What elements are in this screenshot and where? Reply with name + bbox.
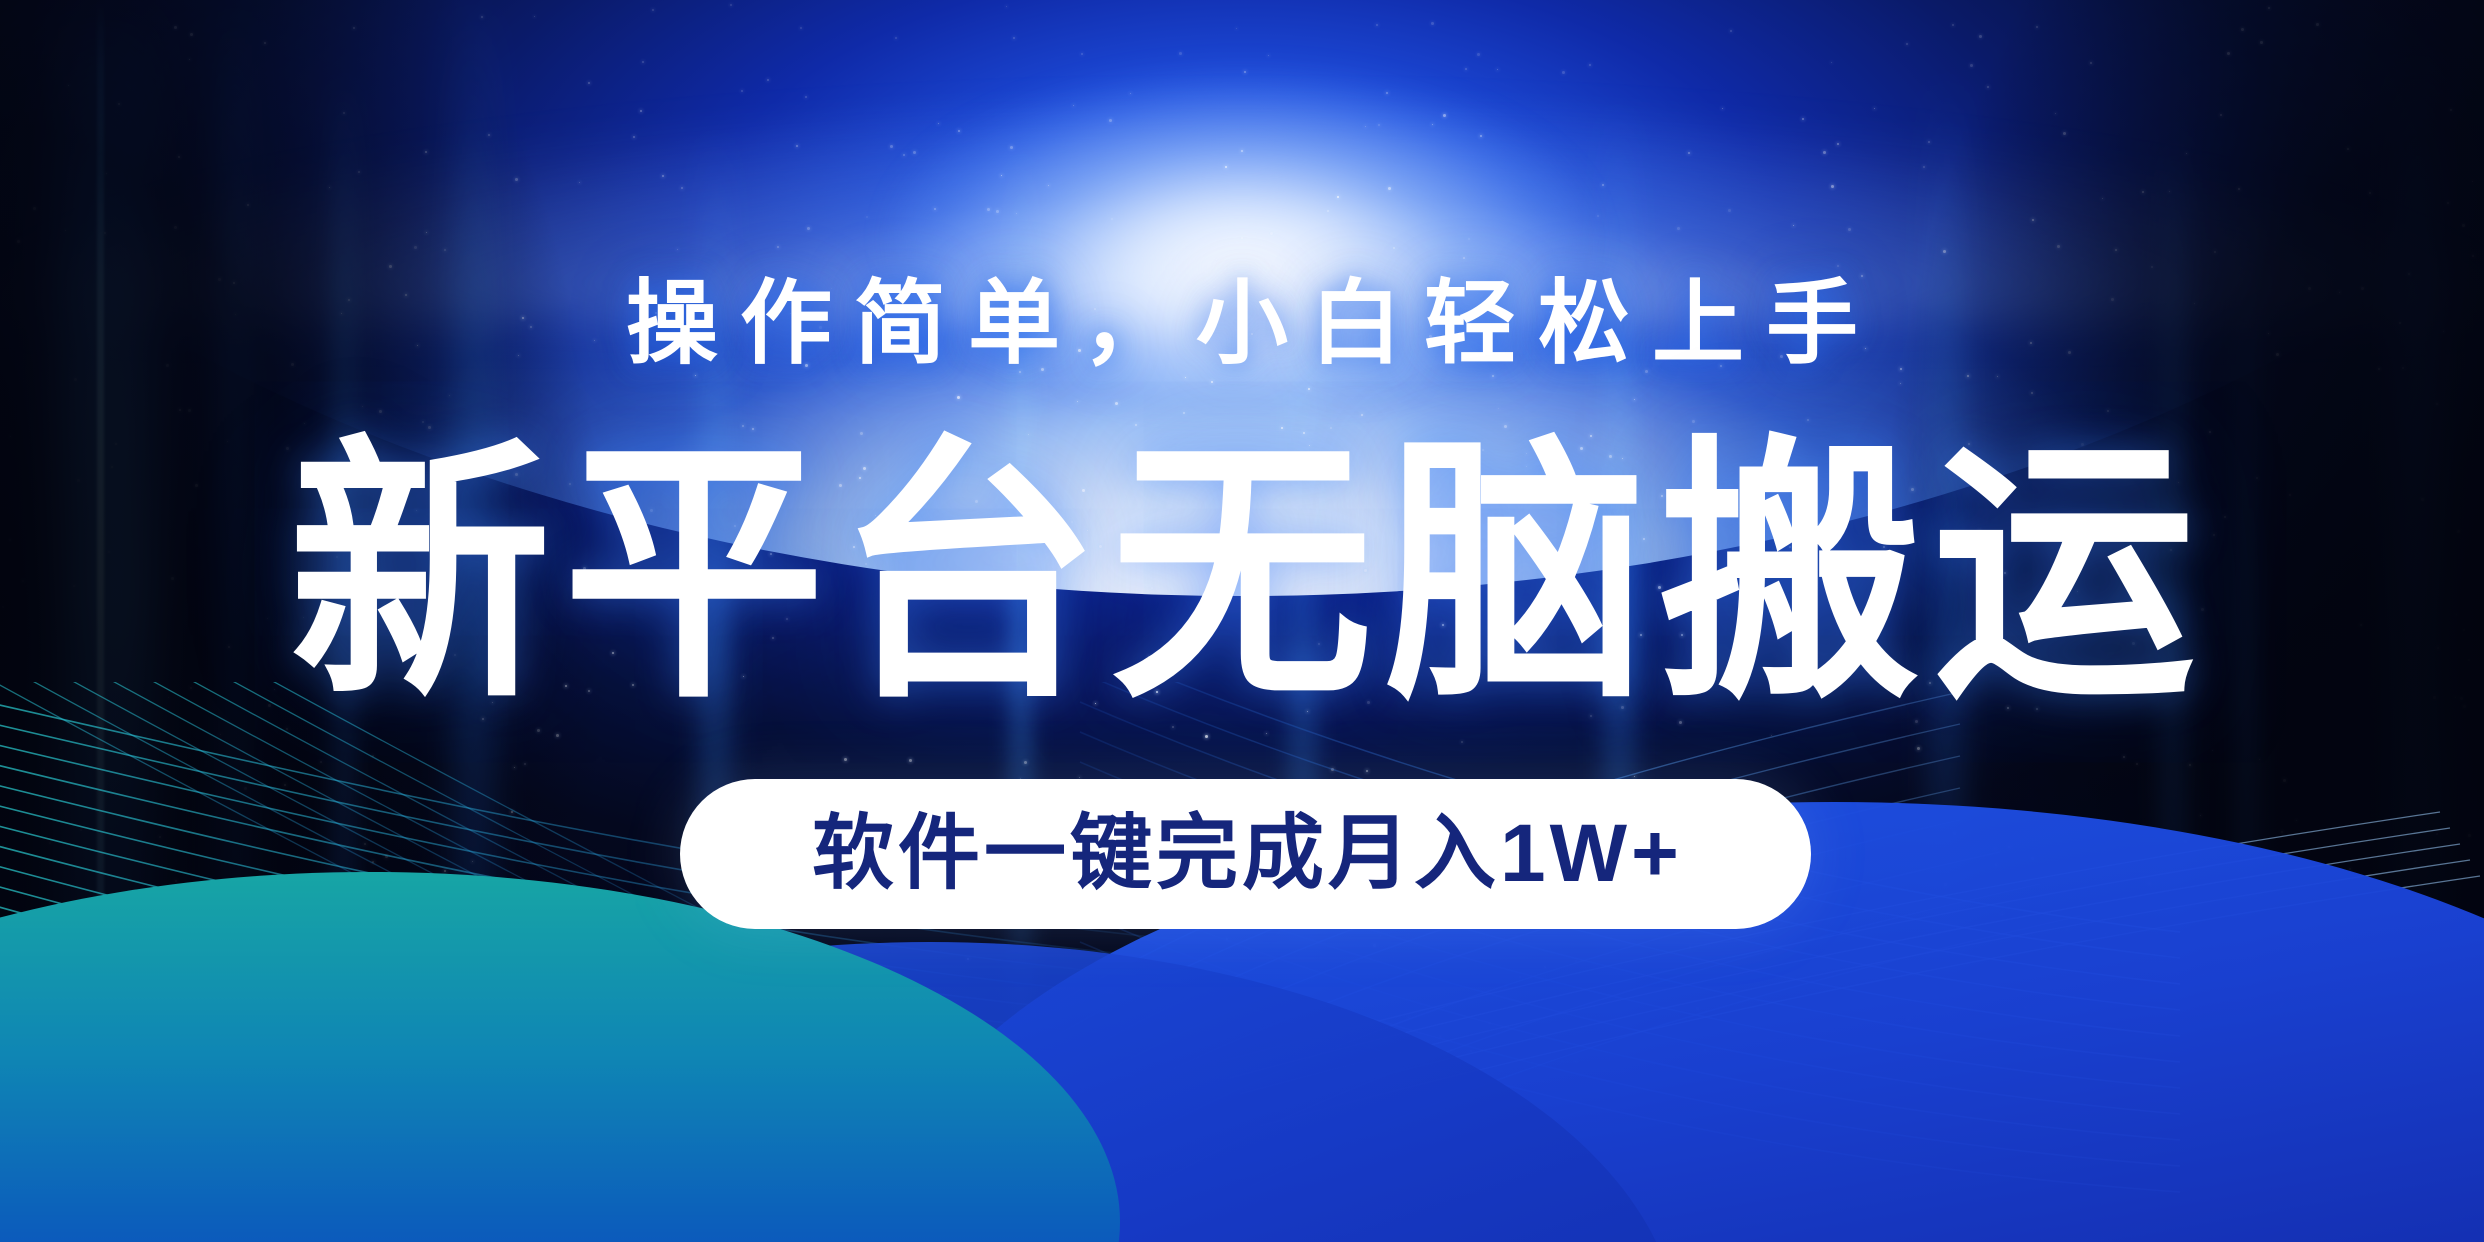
promo-banner: 操作简单，小白轻松上手 新平台无脑搬运 软件一键完成月入1W+: [0, 0, 2484, 1242]
highlight-pill-text: 软件一键完成月入1W+: [808, 813, 1683, 895]
banner-subtitle: 操作简单，小白轻松上手: [0, 278, 2484, 370]
highlight-pill: 软件一键完成月入1W+: [680, 779, 1811, 929]
banner-headline: 新平台无脑搬运: [0, 436, 2484, 714]
banner-content: 操作简单，小白轻松上手 新平台无脑搬运 软件一键完成月入1W+: [0, 0, 2484, 1242]
